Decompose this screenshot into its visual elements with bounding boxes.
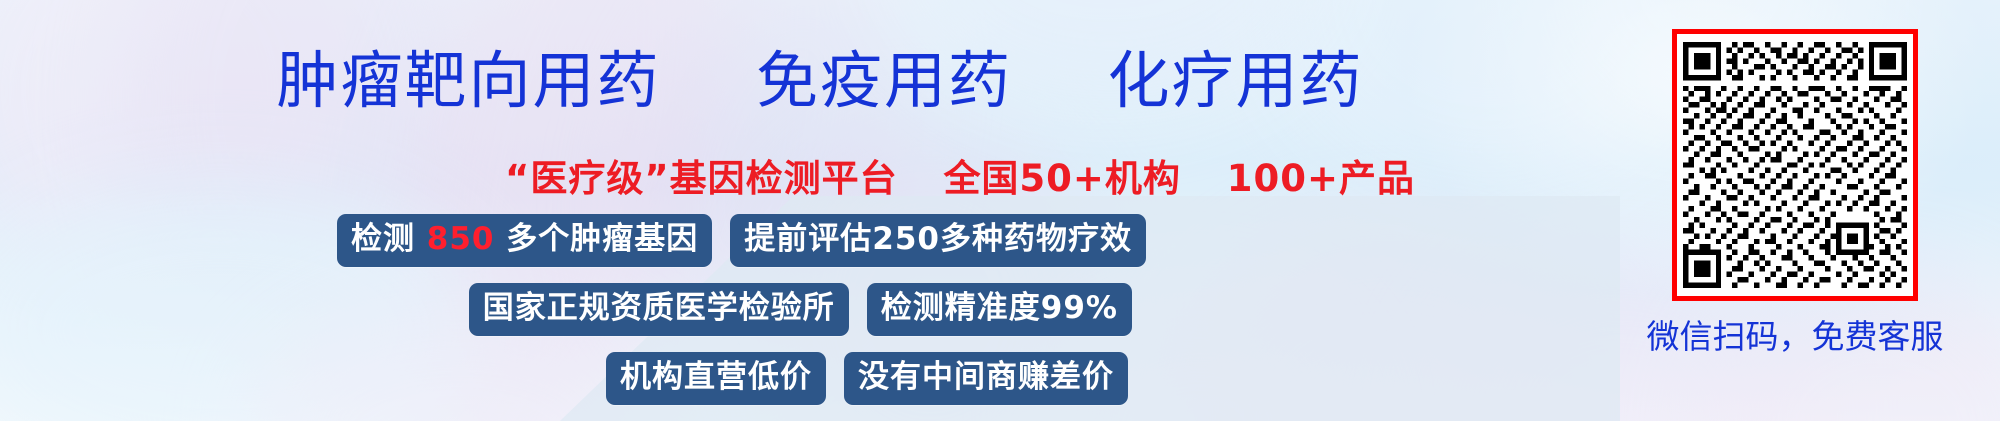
qr-caption: 微信扫码，免费客服 [1640,310,1950,358]
badge-text-prefix: 检测 [351,221,427,257]
subtitle-part-2: 全国50+机构 [943,157,1181,200]
qr-code-image [1683,40,1907,290]
badge-accuracy[interactable]: 检测精准度99% [867,283,1132,336]
badge-row: 机构直营低价 没有中间商赚差价 [0,352,1622,405]
badge-text-prefix: 没有中间商赚差价 [858,359,1114,395]
headline-segment-1: 肿瘤靶向用药 [277,44,661,117]
badge-row: 国家正规资质医学检验所 检测精准度99% [0,283,1626,336]
badge-text-prefix: 提前评估250多种药物疗效 [744,221,1132,257]
badge-drug-efficacy[interactable]: 提前评估250多种药物疗效 [730,214,1146,267]
subtitle-part-1: “医疗级”基因检测平台 [505,157,898,200]
feature-badge-group: 检测 850 多个肿瘤基因 提前评估250多种药物疗效 国家正规资质医学检验所 … [0,214,1640,405]
badge-no-middleman[interactable]: 没有中间商赚差价 [844,352,1128,405]
badge-highlight-number: 850 [427,221,495,257]
headline-segment-2: 免疫用药 [756,44,1012,117]
headline-segment-3: 化疗用药 [1107,44,1363,117]
subtitle-part-3: 100+产品 [1227,157,1415,200]
badge-direct-price[interactable]: 机构直营低价 [606,352,826,405]
subtitle: “医疗级”基因检测平台 全国50+机构 100+产品 [300,148,1620,202]
promo-banner: 肿瘤靶向用药 免疫用药 化疗用药 “医疗级”基因检测平台 全国50+机构 100… [0,0,2000,421]
badge-text-prefix: 检测精准度99% [881,290,1118,326]
qr-code[interactable] [1672,29,1918,301]
badge-gene-count[interactable]: 检测 850 多个肿瘤基因 [337,214,712,267]
badge-text-suffix: 多个肿瘤基因 [494,221,698,257]
badge-certified-lab[interactable]: 国家正规资质医学检验所 [469,283,849,336]
badge-row: 检测 850 多个肿瘤基因 提前评估250多种药物疗效 [0,214,1640,267]
page-title: 肿瘤靶向用药 免疫用药 化疗用药 [0,30,1640,120]
badge-text-prefix: 国家正规资质医学检验所 [483,290,835,326]
badge-text-prefix: 机构直营低价 [620,359,812,395]
